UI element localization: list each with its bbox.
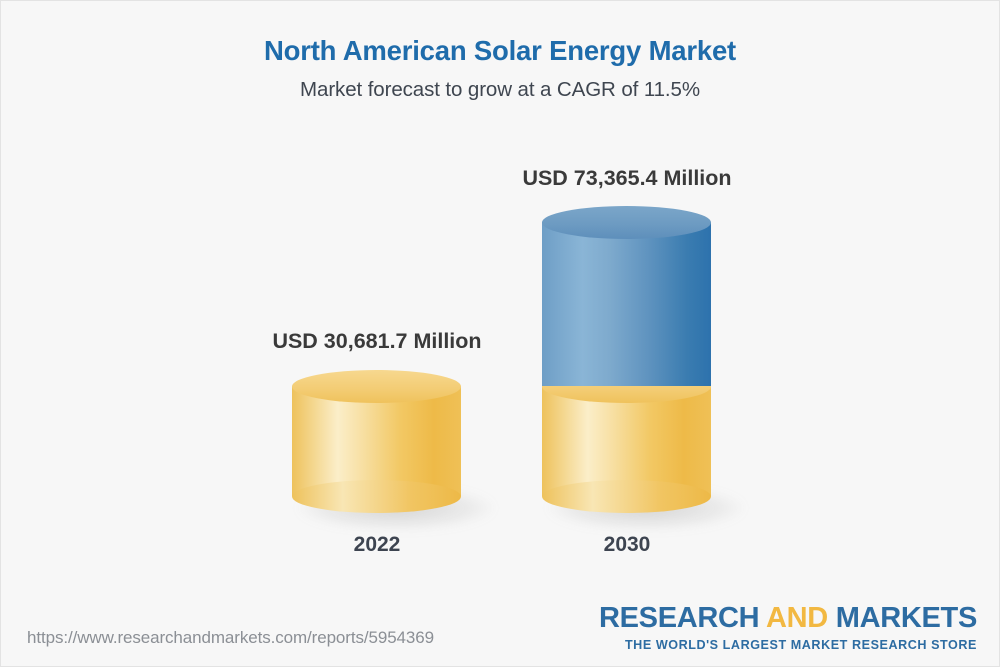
cylinder-top-cap-2022 (292, 370, 461, 403)
source-url[interactable]: https://www.researchandmarkets.com/repor… (27, 628, 434, 648)
chart-plot-area: USD 30,681.7 Million 2022 USD 73,365.4 M… (1, 1, 1000, 668)
cylinder-segment-gold-2022 (292, 370, 461, 513)
infographic-container: North American Solar Energy Market Marke… (0, 0, 1000, 667)
brand-logo[interactable]: RESEARCH AND MARKETS THE WORLD'S LARGEST… (599, 604, 977, 652)
logo-word-research: RESEARCH (599, 602, 766, 634)
value-label-2022: USD 30,681.7 Million (207, 329, 547, 354)
value-label-2030: USD 73,365.4 Million (457, 166, 797, 191)
logo-word-and: AND (766, 602, 828, 634)
cylinder-segment-gold-2030 (542, 370, 711, 513)
cylinder-segment-blue-2030 (542, 206, 711, 386)
category-label-2030: 2030 (457, 533, 797, 557)
cylinder-2030[interactable] (542, 206, 711, 513)
cylinder-top-cap-2030 (542, 206, 711, 239)
cylinder-bottom-cap-2030 (542, 480, 711, 513)
cylinder-body-blue-2030 (542, 222, 711, 386)
logo-tagline: THE WORLD'S LARGEST MARKET RESEARCH STOR… (599, 639, 977, 652)
cylinder-2022[interactable] (292, 370, 461, 513)
logo-word-markets: MARKETS (828, 602, 977, 634)
cylinder-bottom-cap-2022 (292, 480, 461, 513)
logo-wordmark: RESEARCH AND MARKETS (599, 604, 977, 633)
